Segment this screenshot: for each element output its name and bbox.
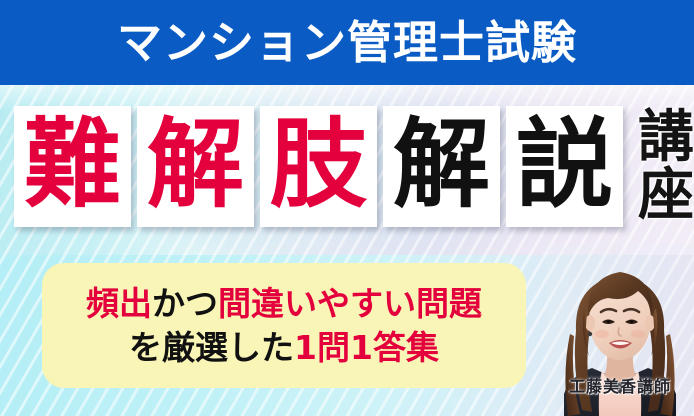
callout-seg-1-3: 間違いやすい問題 — [218, 284, 482, 323]
callout-line-2: を厳選した1問1答集 — [129, 326, 439, 370]
callout-seg-2-1: を厳選した — [129, 328, 294, 367]
callout-seg-1-2: かつ — [152, 284, 218, 323]
title-card-1: 難 — [14, 106, 131, 227]
title-card-5: 説 — [506, 106, 623, 227]
title-card-2: 解 — [137, 106, 254, 227]
callout-seg-1-1: 頻出 — [86, 284, 152, 323]
callout-seg-2-2: 1問1答集 — [294, 328, 439, 367]
title-glyph-3: 肢 — [270, 116, 367, 213]
title-card-4: 解 — [383, 106, 500, 227]
callout-line-1: 頻出かつ間違いやすい問題 — [86, 282, 482, 326]
instructor-photo: 工藤美香講師 — [546, 244, 694, 416]
promotional-banner: マンション管理士試験 難 解 肢 解 説 講 座 頻出かつ間違いやすい問題 を厳… — [0, 0, 694, 416]
main-title: 難 解 肢 解 説 講 座 — [14, 106, 694, 228]
instructor-name: 工藤美香講師 — [546, 373, 694, 397]
callout-box: 頻出かつ間違いやすい問題 を厳選した1問1答集 — [42, 263, 526, 388]
title-card-3: 肢 — [260, 106, 377, 227]
title-suffix-vertical: 講 座 — [633, 106, 694, 227]
title-glyph-2: 解 — [147, 116, 244, 213]
header-title: マンション管理士試験 — [117, 20, 577, 65]
title-glyph-5: 説 — [516, 116, 613, 213]
title-suffix-glyph-2: 座 — [638, 167, 694, 225]
header-bar: マンション管理士試験 — [0, 0, 694, 85]
title-suffix-glyph-1: 講 — [638, 109, 694, 167]
title-glyph-4: 解 — [393, 116, 490, 213]
title-glyph-1: 難 — [24, 116, 121, 213]
